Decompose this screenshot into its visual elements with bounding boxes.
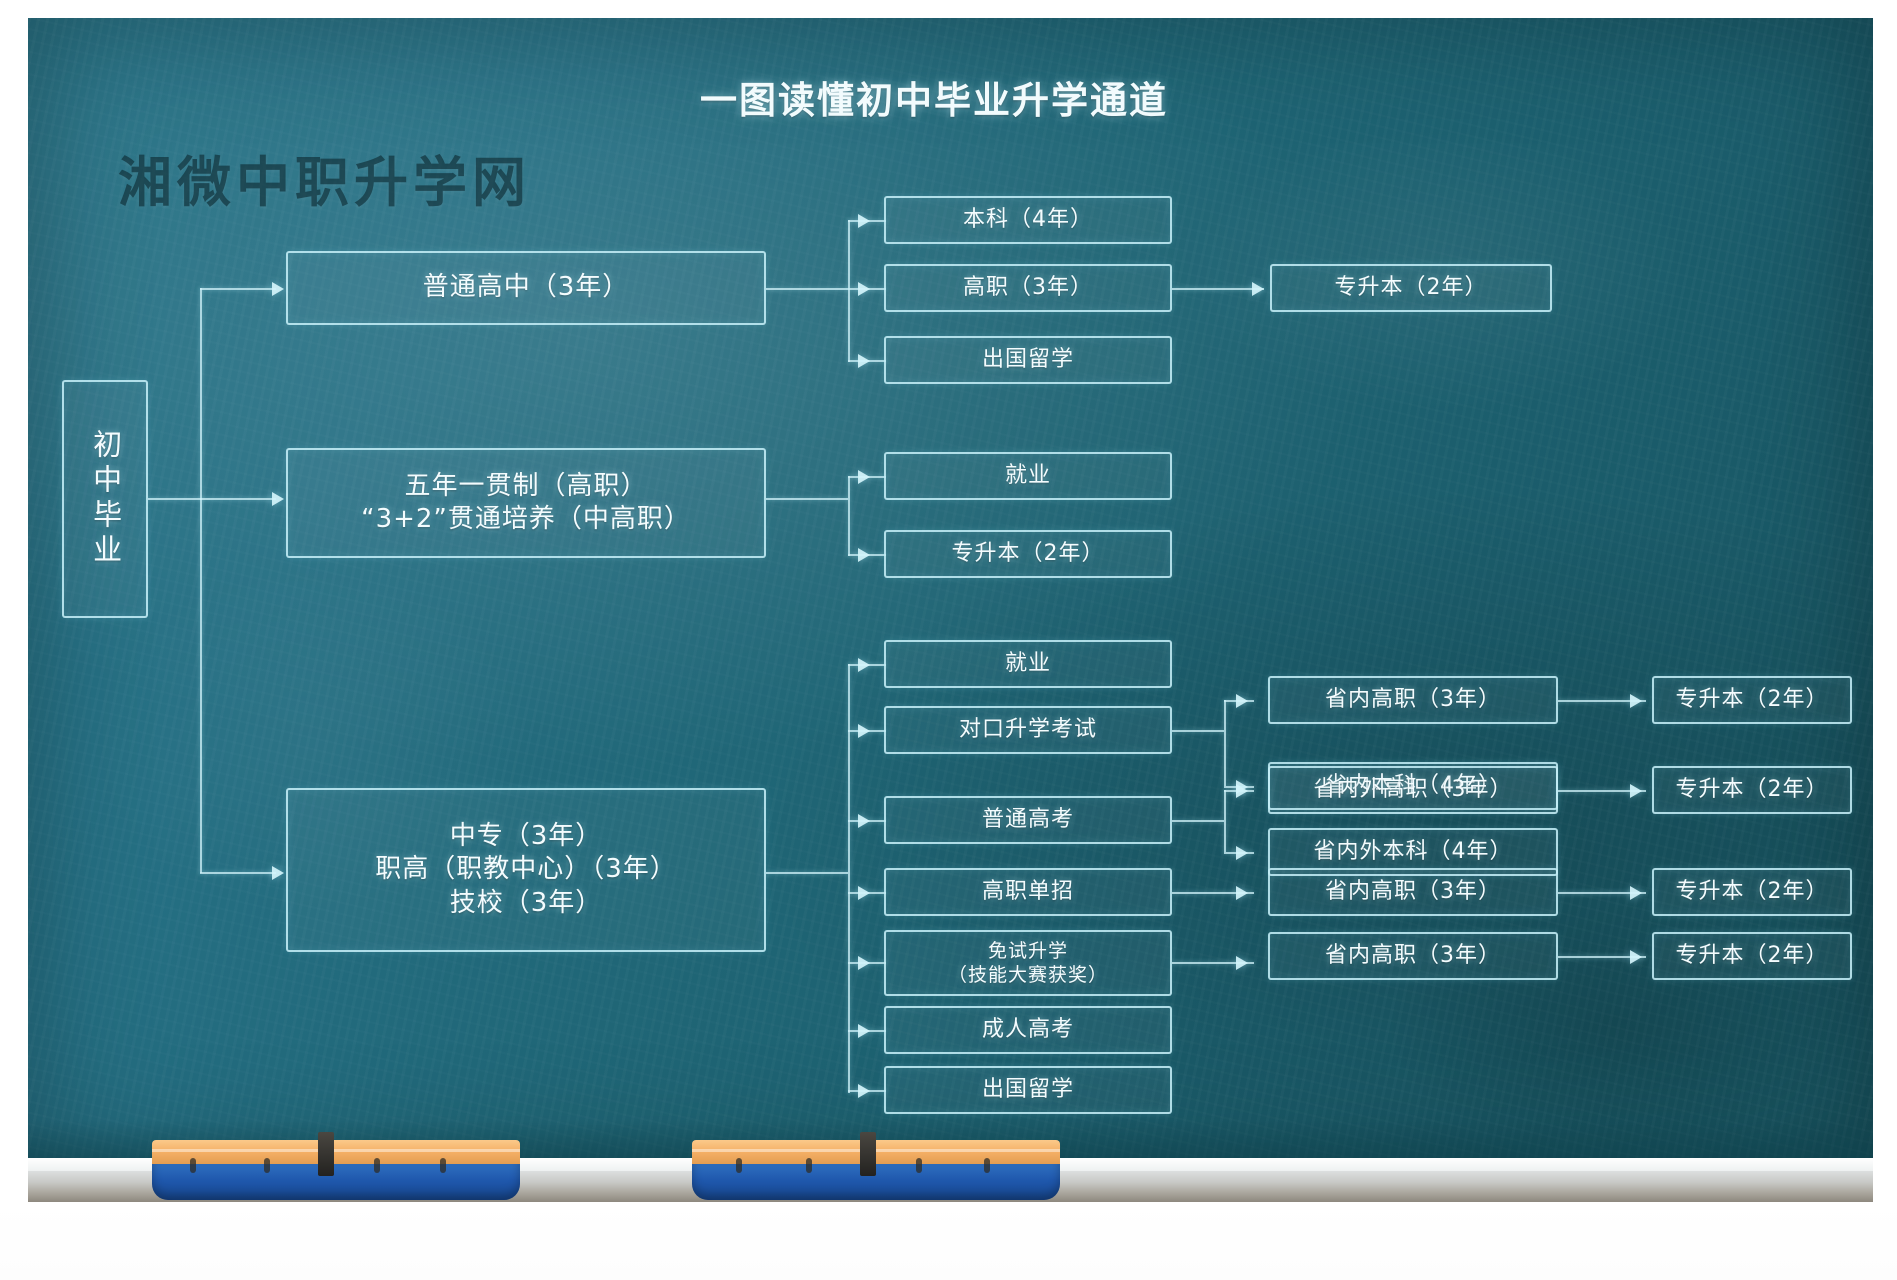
node-upgrade-bachelor-1[interactable]: 专升本（2年） [1652, 676, 1852, 724]
node-exempt-admission[interactable]: 免试升学 （技能大赛获奖） [884, 930, 1172, 996]
eraser-felt [152, 1140, 520, 1166]
connector-b3-spine [848, 664, 850, 1093]
node-bachelor-4y[interactable]: 本科（4年） [884, 196, 1172, 244]
node-secondary-vocational[interactable]: 中专（3年） 职高（职教中心）（3年） 技校（3年） [286, 788, 766, 952]
node-root[interactable]: 初中毕业 [62, 380, 148, 618]
connector-b1-out [766, 288, 848, 290]
arrow-root-to-b1 [272, 282, 284, 296]
arrow-c2-to-upgrade [1252, 282, 1264, 296]
arrow-b2-to-c1 [858, 470, 870, 484]
arrow-exempt-to-r6 [1236, 956, 1248, 970]
arrow-r6-to-t4 [1630, 950, 1642, 964]
node-inout-province-college[interactable]: 省内外高职（3年） [1268, 766, 1558, 814]
eraser-stud [806, 1158, 812, 1173]
node-upgrade-bachelor-top[interactable]: 专升本（2年） [1270, 264, 1552, 312]
arrow-b2-to-c2 [858, 548, 870, 562]
connector-gaokao-spine [1224, 790, 1226, 852]
arrow-exam-to-r1 [1236, 694, 1248, 708]
node-in-province-college-3[interactable]: 省内高职（3年） [1268, 932, 1558, 980]
node-five-year-program[interactable]: 五年一贯制（高职） “3+2”贯通培养（中高职） [286, 448, 766, 558]
node-study-abroad-top[interactable]: 出国留学 [884, 336, 1172, 384]
eraser-body [692, 1164, 1060, 1200]
arrow-b3-to-c4 [858, 886, 870, 900]
connector-root-spine [200, 288, 202, 873]
connector-root-to-b1 [200, 288, 276, 290]
eraser-stud [264, 1158, 270, 1173]
arrow-b3-to-c5 [858, 956, 870, 970]
screenshot-root: 一图读懂初中毕业升学通道 湘微中职升学网 初中毕业 普通高中（3年） 本科（4年… [0, 0, 1897, 1280]
connector-root-out [148, 498, 202, 500]
arrow-b1-to-c1 [858, 214, 870, 228]
eraser-stud [190, 1158, 196, 1173]
vocational-line-2: 职高（职教中心）（3年） [375, 853, 677, 886]
blackboard-eraser-right[interactable] [692, 1140, 1060, 1200]
arrow-single-to-r5 [1236, 886, 1248, 900]
exempt-line-2: （技能大赛获奖） [948, 963, 1108, 987]
eraser-stud [984, 1158, 990, 1173]
vocational-line-1: 中专（3年） [450, 820, 603, 853]
floor-area [0, 1202, 1897, 1280]
arrow-r5-to-t3 [1630, 886, 1642, 900]
node-upgrade-bachelor-3[interactable]: 专升本（2年） [1652, 868, 1852, 916]
arrow-r1-to-t1 [1630, 694, 1642, 708]
connector-root-to-b3 [200, 872, 276, 874]
arrow-b3-to-c2 [858, 724, 870, 738]
connector-b1-spine [848, 220, 850, 362]
node-gaokao[interactable]: 普通高考 [884, 796, 1172, 844]
node-employment-mid[interactable]: 就业 [884, 452, 1172, 500]
vocational-line-3: 技校（3年） [450, 887, 603, 920]
connector-b3-out [766, 872, 848, 874]
arrow-b1-to-c3 [858, 354, 870, 368]
node-employment-bottom[interactable]: 就业 [884, 640, 1172, 688]
connector-exam-spine [1224, 700, 1226, 786]
eraser-clip [860, 1132, 876, 1176]
node-vocational-college-3y[interactable]: 高职（3年） [884, 264, 1172, 312]
five-year-line-1: 五年一贯制（高职） [404, 470, 647, 503]
eraser-stud [736, 1158, 742, 1173]
blackboard-eraser-left[interactable] [152, 1140, 520, 1200]
node-study-abroad-bottom[interactable]: 出国留学 [884, 1066, 1172, 1114]
arrow-b3-to-c7 [858, 1084, 870, 1098]
eraser-body [152, 1164, 520, 1200]
watermark-text: 湘微中职升学网 [118, 138, 531, 217]
node-general-high-school[interactable]: 普通高中（3年） [286, 251, 766, 325]
arrow-b1-to-c2 [858, 282, 870, 296]
eraser-stud [374, 1158, 380, 1173]
page-title: 一图读懂初中毕业升学通道 [700, 70, 1168, 124]
node-adult-gaokao[interactable]: 成人高考 [884, 1006, 1172, 1054]
node-single-enrollment[interactable]: 高职单招 [884, 868, 1172, 916]
arrow-gaokao-to-r3 [1236, 784, 1248, 798]
node-in-province-college-2[interactable]: 省内高职（3年） [1268, 868, 1558, 916]
arrow-gaokao-to-r4 [1236, 846, 1248, 860]
eraser-stud [916, 1158, 922, 1173]
node-in-province-college-1[interactable]: 省内高职（3年） [1268, 676, 1558, 724]
eraser-stud [440, 1158, 446, 1173]
five-year-line-2: “3+2”贯通培养（中高职） [361, 503, 691, 536]
arrow-b3-to-c3 [858, 814, 870, 828]
node-upgrade-bachelor-4[interactable]: 专升本（2年） [1652, 932, 1852, 980]
eraser-felt [692, 1140, 1060, 1166]
node-upgrade-bachelor-2[interactable]: 专升本（2年） [1652, 766, 1852, 814]
exempt-line-1: 免试升学 [988, 939, 1068, 963]
connector-gaokao-out [1172, 820, 1224, 822]
connector-b2-out [766, 498, 848, 500]
connector-b2-spine [848, 476, 850, 556]
node-upgrade-bachelor-mid[interactable]: 专升本（2年） [884, 530, 1172, 578]
connector-c2-to-upgrade [1172, 288, 1264, 290]
connector-exam-out [1172, 730, 1224, 732]
connector-root-to-b2 [200, 498, 276, 500]
arrow-r3-to-t2 [1630, 784, 1642, 798]
arrow-root-to-b3 [272, 866, 284, 880]
node-counterpart-exam[interactable]: 对口升学考试 [884, 706, 1172, 754]
eraser-clip [318, 1132, 334, 1176]
arrow-b3-to-c1 [858, 658, 870, 672]
arrow-b3-to-c6 [858, 1024, 870, 1038]
arrow-root-to-b2 [272, 492, 284, 506]
